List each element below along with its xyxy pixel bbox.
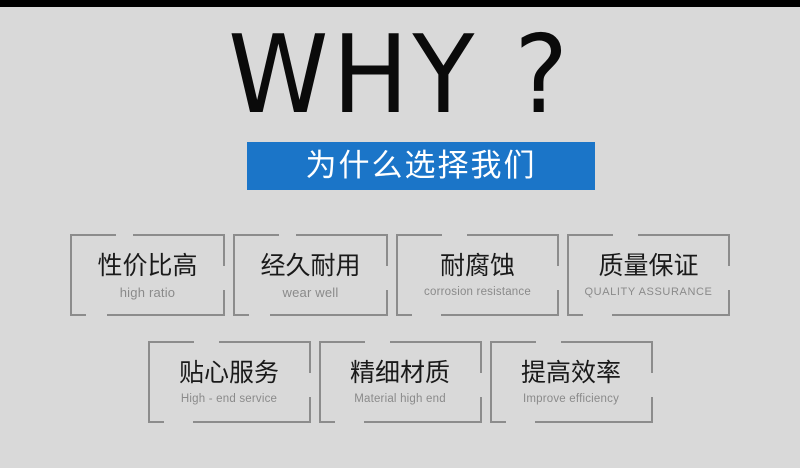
feature-title-en: High - end service <box>181 392 277 407</box>
feature-card-body: 经久耐用 wear well <box>233 234 388 316</box>
feature-title-cn: 精细材质 <box>350 358 450 388</box>
feature-card-high-ratio[interactable]: 性价比高 high ratio <box>70 234 225 316</box>
feature-card-body: 提高效率 Improve efficiency <box>490 341 653 423</box>
feature-title-en: Material high end <box>354 392 446 407</box>
feature-title-cn: 质量保证 <box>598 251 698 281</box>
feature-title-en: wear well <box>283 285 339 300</box>
feature-title-cn: 经久耐用 <box>260 251 360 281</box>
feature-title-en: Improve efficiency <box>523 392 619 407</box>
feature-card-wear-well[interactable]: 经久耐用 wear well <box>233 234 388 316</box>
feature-row-two: 贴心服务 High - end service 精细材质 Material hi… <box>0 341 800 423</box>
feature-title-en: QUALITY ASSURANCE <box>585 285 713 300</box>
feature-card-corrosion-resistance[interactable]: 耐腐蚀 corrosion resistance <box>396 234 559 316</box>
feature-title-cn: 贴心服务 <box>179 358 279 388</box>
feature-card-improve-efficiency[interactable]: 提高效率 Improve efficiency <box>490 341 653 423</box>
feature-card-body: 性价比高 high ratio <box>70 234 225 316</box>
feature-card-high-end-service[interactable]: 贴心服务 High - end service <box>148 341 311 423</box>
features-section: 性价比高 high ratio 经久耐用 wear well <box>0 0 800 468</box>
feature-card-material-high-end[interactable]: 精细材质 Material high end <box>319 341 482 423</box>
feature-title-en: corrosion resistance <box>424 285 531 300</box>
feature-card-body: 耐腐蚀 corrosion resistance <box>396 234 559 316</box>
feature-card-body: 精细材质 Material high end <box>319 341 482 423</box>
feature-title-cn: 耐腐蚀 <box>440 251 515 281</box>
feature-card-quality-assurance[interactable]: 质量保证 QUALITY ASSURANCE <box>567 234 730 316</box>
feature-card-body: 质量保证 QUALITY ASSURANCE <box>567 234 730 316</box>
feature-title-cn: 提高效率 <box>521 358 621 388</box>
feature-title-en: high ratio <box>120 285 175 300</box>
feature-card-body: 贴心服务 High - end service <box>148 341 311 423</box>
feature-row-one: 性价比高 high ratio 经久耐用 wear well <box>0 234 800 316</box>
feature-title-cn: 性价比高 <box>97 251 197 281</box>
